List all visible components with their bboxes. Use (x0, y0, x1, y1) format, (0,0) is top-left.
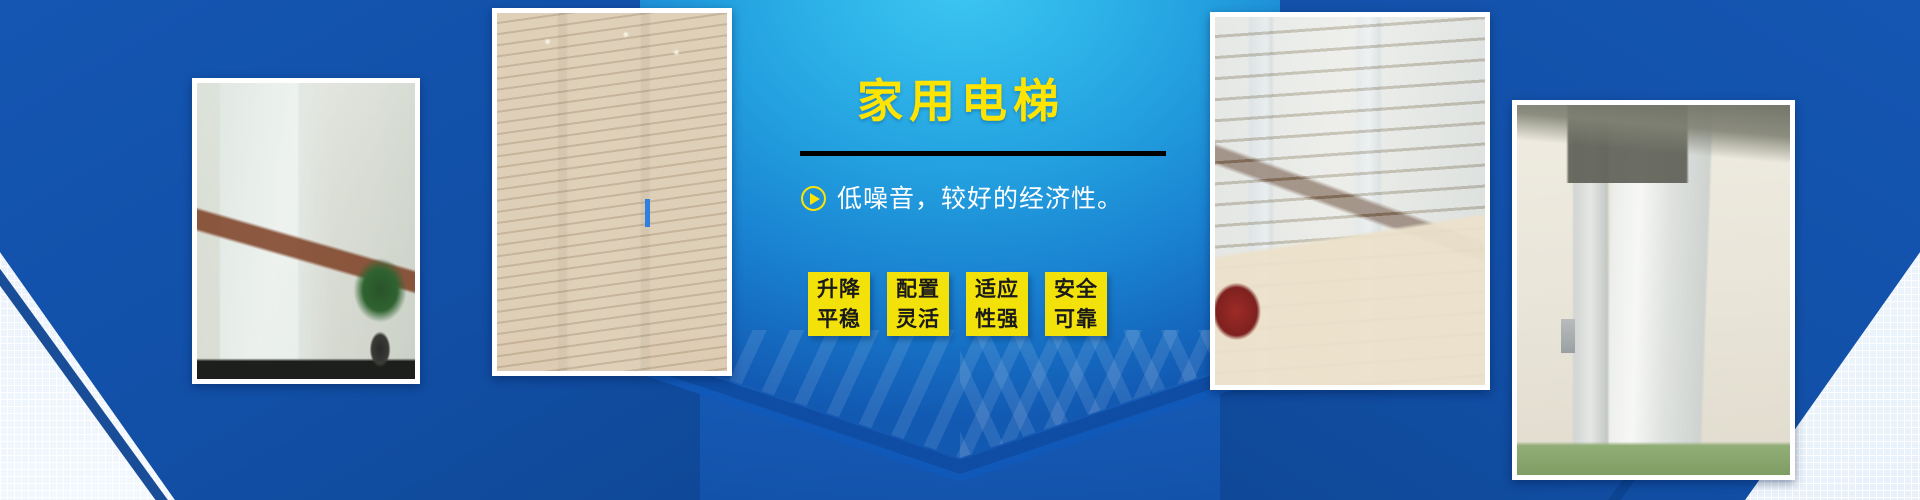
photo-shaft-corridor-elevator (492, 8, 732, 376)
banner-copy-block: 家用电梯 低噪音，较好的经济性。 (795, 78, 1195, 211)
badge-flexible-config-line2: 灵活 (896, 304, 940, 334)
badge-lifting-smooth-line1: 升降 (817, 274, 861, 304)
photo-installation-raw-room (1512, 100, 1795, 480)
tagline-text: 低噪音，较好的经济性。 (837, 186, 1123, 211)
badge-adaptability-line2: 性强 (975, 304, 1019, 334)
badge-flexible-config-line1: 配置 (896, 274, 940, 304)
circle-play-icon (801, 186, 826, 211)
page-title: 家用电梯 (857, 78, 1195, 124)
badge-safe-reliable-line1: 安全 (1054, 274, 1098, 304)
photo-metal-frame-elevator-image (1215, 17, 1485, 385)
tagline-row: 低噪音，较好的经济性。 (801, 186, 1195, 211)
badge-flexible-config[interactable]: 配置 灵活 (887, 272, 949, 336)
photo-shaft-corridor-elevator-image (497, 13, 727, 371)
circle-play-icon-triangle (810, 193, 820, 205)
photo-metal-frame-elevator (1210, 12, 1490, 390)
photo-glass-cabin-home-elevator (192, 78, 420, 384)
badge-lifting-smooth[interactable]: 升降 平稳 (808, 272, 870, 336)
badge-safe-reliable[interactable]: 安全 可靠 (1045, 272, 1107, 336)
feature-badge-list: 升降 平稳 配置 灵活 适应 性强 安全 可靠 (808, 272, 1107, 336)
photo-installation-raw-room-image (1517, 105, 1790, 475)
badge-adaptability-line1: 适应 (975, 274, 1019, 304)
badge-adaptability[interactable]: 适应 性强 (966, 272, 1028, 336)
badge-safe-reliable-line2: 可靠 (1054, 304, 1098, 334)
title-divider (800, 151, 1166, 156)
photo-glass-cabin-home-elevator-image (197, 83, 415, 379)
home-elevator-banner: 家用电梯 低噪音，较好的经济性。 升降 平稳 配置 灵活 适应 性强 安全 可靠 (0, 0, 1920, 500)
badge-lifting-smooth-line2: 平稳 (817, 304, 861, 334)
